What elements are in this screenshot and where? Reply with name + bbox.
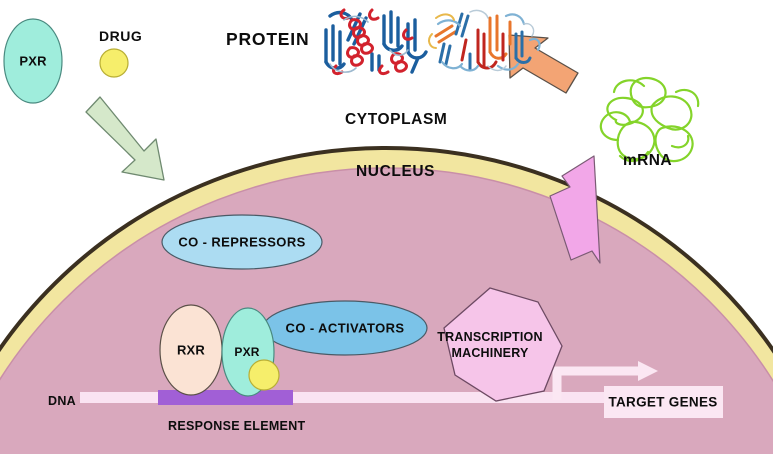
drug-entry-arrow-icon bbox=[86, 97, 164, 180]
protein-label: PROTEIN bbox=[226, 29, 309, 50]
drug-free-circle-icon bbox=[100, 49, 128, 77]
dna-label: DNA bbox=[48, 394, 76, 408]
mrna-coiled-strand-icon bbox=[601, 78, 698, 161]
transcription-machinery-line-2: MACHINERY bbox=[437, 345, 542, 361]
pxr-nuclear-label: PXR bbox=[234, 345, 259, 359]
translation-arrow-icon bbox=[509, 35, 578, 93]
transcription-machinery-label: TRANSCRIPTION MACHINERY bbox=[437, 329, 542, 361]
cytoplasm-label: CYTOPLASM bbox=[345, 111, 447, 129]
diagram-canvas bbox=[0, 0, 773, 454]
co-activators-label: CO - ACTIVATORS bbox=[286, 321, 405, 336]
target-genes-label: TARGET GENES bbox=[608, 395, 717, 410]
response-element-segment bbox=[158, 390, 293, 405]
pxr-signaling-diagram: PROTEIN CYTOPLASM NUCLEUS mRNA DRUG PXR … bbox=[0, 0, 773, 454]
response-element-label: RESPONSE ELEMENT bbox=[168, 419, 305, 433]
drug-bound-circle-icon bbox=[249, 360, 279, 390]
co-repressors-label: CO - REPRESSORS bbox=[178, 235, 305, 250]
pxr-cytoplasm-label: PXR bbox=[19, 54, 46, 69]
mrna-label: mRNA bbox=[623, 152, 672, 170]
nucleus-label: NUCLEUS bbox=[356, 163, 435, 181]
rxr-label: RXR bbox=[177, 343, 205, 358]
transcription-machinery-line-1: TRANSCRIPTION bbox=[437, 329, 542, 345]
drug-label: DRUG bbox=[99, 28, 142, 44]
protein-ribbon-blue-red-icon bbox=[326, 10, 426, 74]
protein-ribbon-multicolor-icon bbox=[429, 10, 540, 70]
